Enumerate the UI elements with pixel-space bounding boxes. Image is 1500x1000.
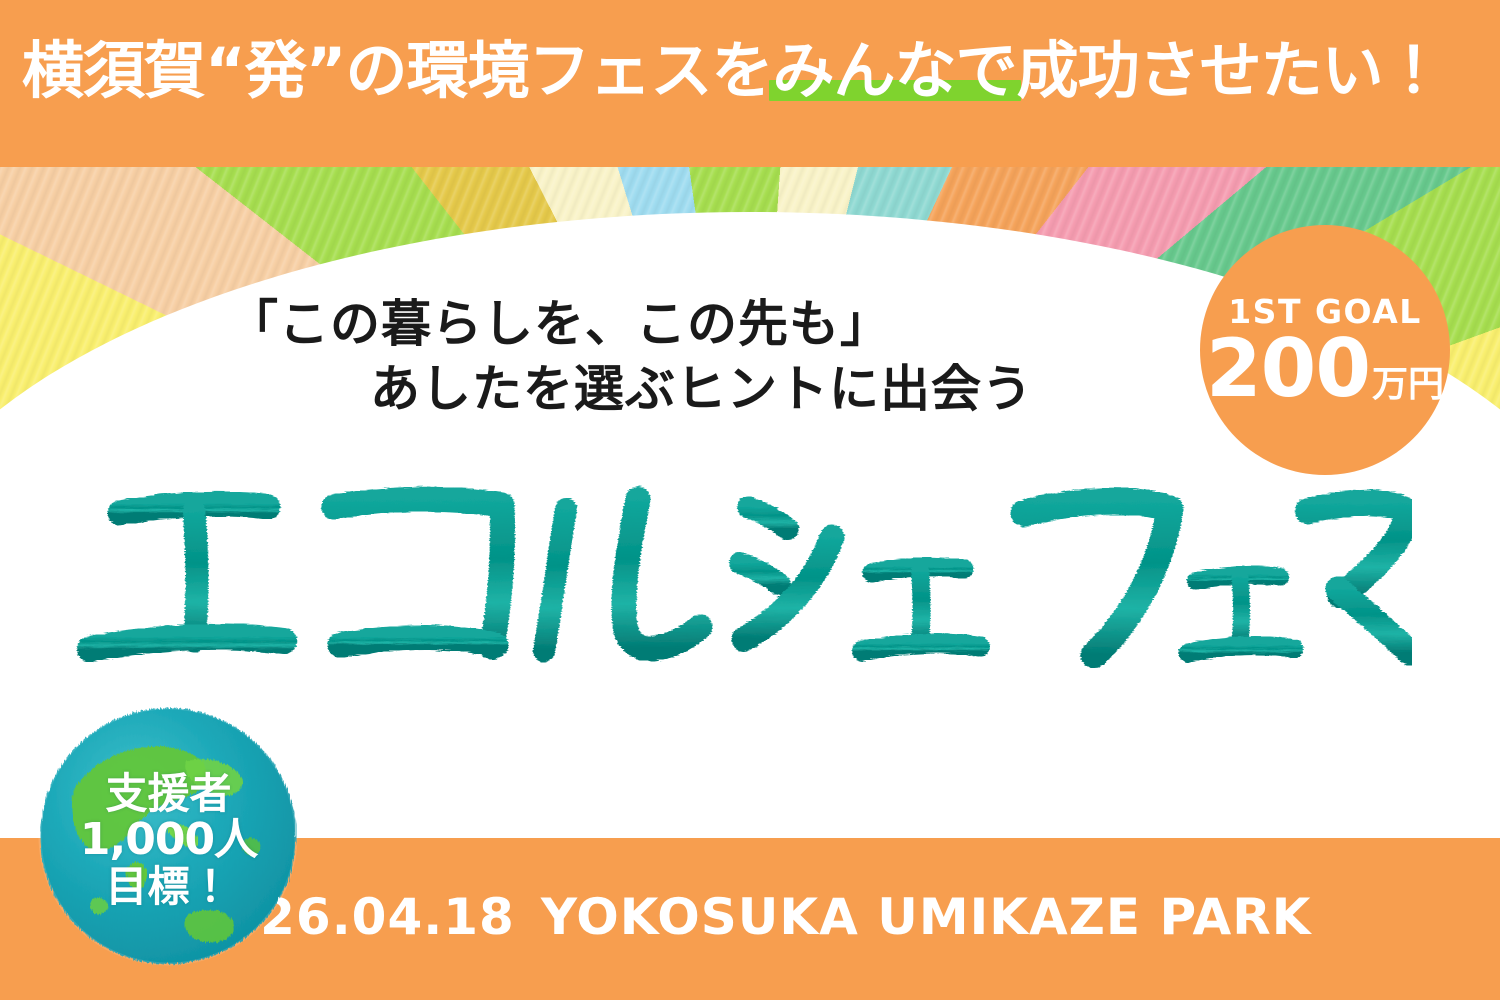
globe-line-2: 1,000人 (36, 816, 301, 864)
goal-amount-unit: 万円 (1372, 367, 1444, 403)
headline-highlighted-phrase: みんなで (773, 38, 1017, 103)
tagline-line-2: あしたを選ぶヒントに出会う (0, 357, 1220, 422)
tagline: 「この暮らしを、この先も」 あしたを選ぶヒントに出会う (0, 292, 1220, 422)
event-venue: YOKOSUKA UMIKAZE PARK (541, 888, 1312, 946)
goal-amount-group: 200 万円 (1206, 329, 1444, 409)
event-logo-ekorushe-fesu: エコルシェフェス (72, 455, 1412, 695)
supporter-goal-globe-badge: 支援者 1,000人 目標！ (36, 703, 301, 968)
globe-line-3: 目標！ (36, 864, 301, 909)
poster-root: 横須賀“発”の環境フェスをみんなで成功させたい！ 「この暮らしを、この先も」 あ… (0, 0, 1500, 1000)
headline-kanji-hatsu: 発 (245, 34, 306, 107)
headline-quote-open: “ (205, 34, 245, 107)
tagline-line-1: 「この暮らしを、この先も」 (0, 292, 1220, 357)
headline: 横須賀“発”の環境フェスをみんなで成功させたい！ (22, 38, 1482, 103)
globe-line-1: 支援者 (36, 771, 301, 816)
headline-segment-3: 成功させたい！ (1017, 34, 1444, 107)
headline-segment-1: 横須賀 (22, 34, 205, 107)
headline-quote-close: ” (306, 34, 346, 107)
globe-badge-text: 支援者 1,000人 目標！ (36, 771, 301, 909)
headline-segment-2: の環境フェスを (346, 34, 773, 107)
goal-amount-number: 200 (1206, 329, 1370, 409)
first-goal-badge: 1ST GOAL 200 万円 (1200, 225, 1450, 475)
